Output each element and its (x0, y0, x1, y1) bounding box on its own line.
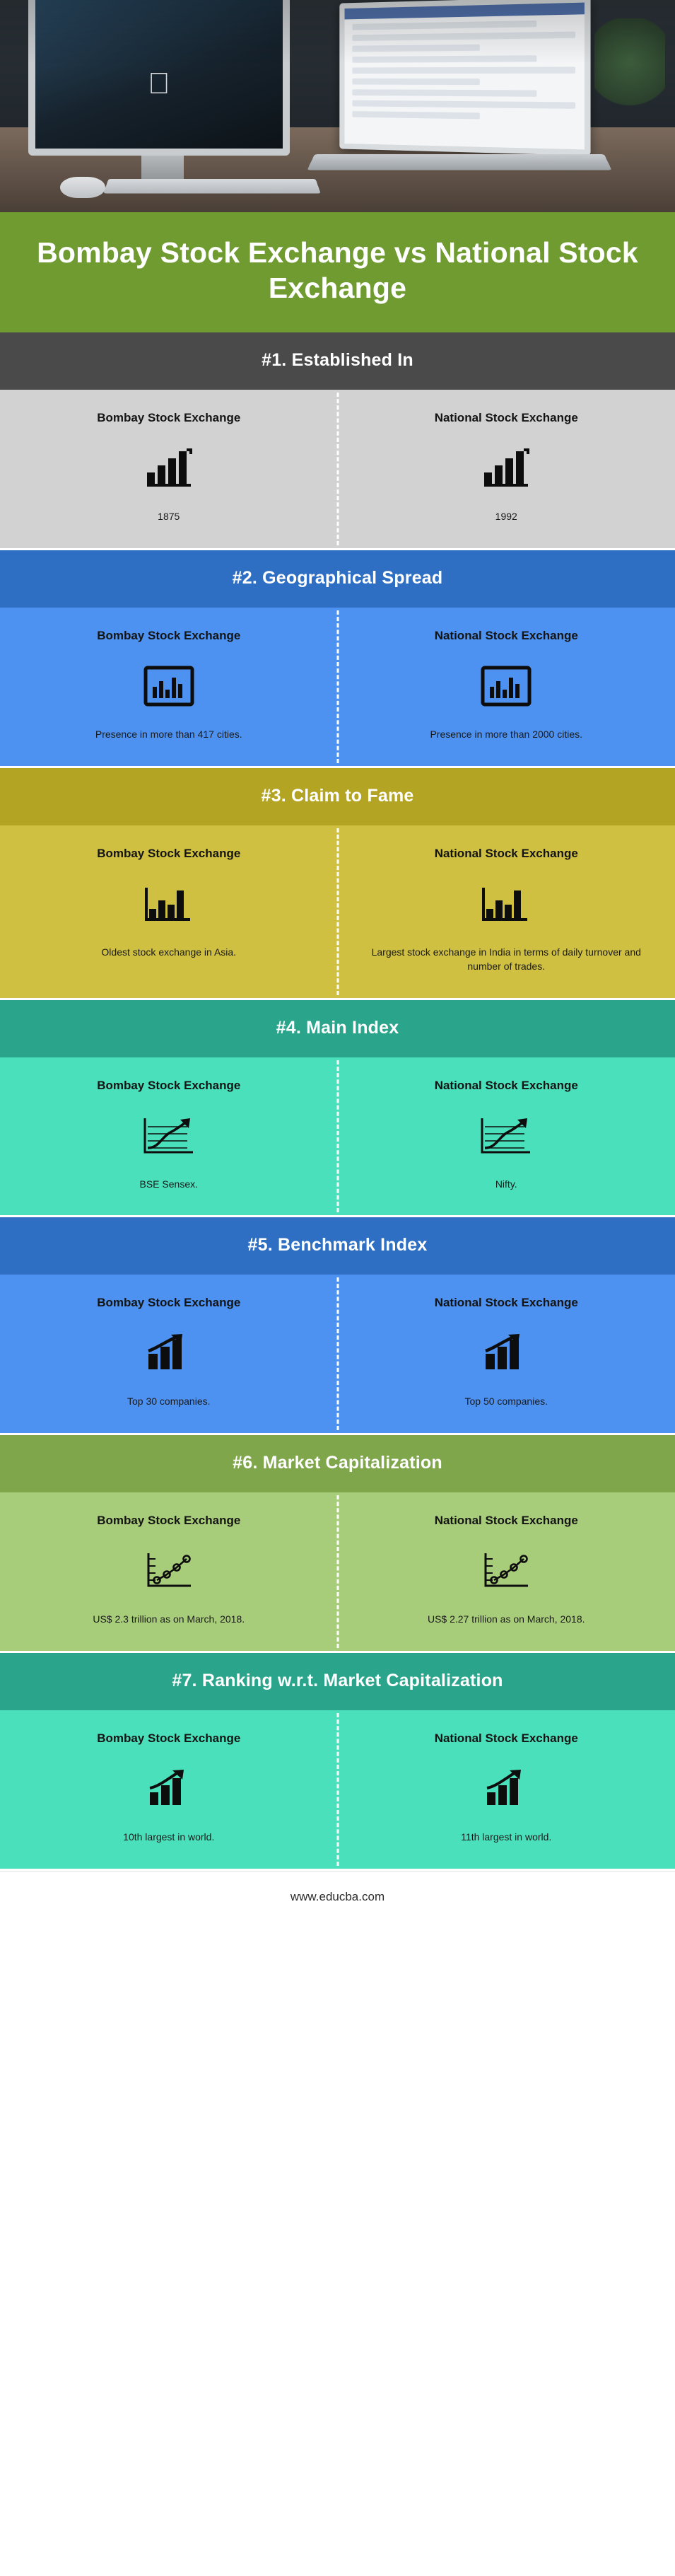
value-nse-6: US$ 2.27 trillion as on March, 2018. (366, 1613, 647, 1627)
section-body-4: Bombay Stock Exchange BSE Sensex. Nation… (0, 1057, 675, 1216)
section-body-6: Bombay Stock Exchange US$ 2.3 trillion a… (0, 1492, 675, 1651)
header-photo:  (0, 0, 675, 212)
exchange-name-nse: National Stock Exchange (366, 629, 647, 643)
value-nse-5: Top 50 companies. (366, 1395, 647, 1409)
column-bse-2: Bombay Stock Exchange Presence in more t… (0, 608, 338, 766)
column-bse-4: Bombay Stock Exchange BSE Sensex. (0, 1057, 338, 1216)
bars-with-arrow-icon (366, 1324, 647, 1382)
bars-arrow-up-icon (366, 1760, 647, 1818)
infographic-page:  Bombay Stock Exchange vs National Stoc… (0, 0, 675, 1925)
section-header-6: #6. Market Capitalization (0, 1435, 675, 1492)
page-title: Bombay Stock Exchange vs National Stock … (21, 235, 654, 306)
column-nse-6: National Stock Exchange US$ 2.27 trillio… (338, 1492, 675, 1651)
value-bse-6: US$ 2.3 trillion as on March, 2018. (28, 1613, 310, 1627)
column-bse-3: Bombay Stock Exchange Oldest stock excha… (0, 825, 338, 998)
section-header-3: #3. Claim to Fame (0, 768, 675, 825)
section-5: #5. Benchmark Index Bombay Stock Exchang… (0, 1217, 675, 1435)
sections-container: #1. Established In Bombay Stock Exchange… (0, 332, 675, 1871)
exchange-name-nse: National Stock Exchange (366, 847, 647, 861)
bar-columns-icon (366, 875, 647, 933)
line-growth-arrow-icon (28, 1107, 310, 1165)
scatter-line-icon (28, 1542, 310, 1600)
bar-chart-icon (28, 439, 310, 497)
exchange-name-nse: National Stock Exchange (366, 1731, 647, 1746)
exchange-name-nse: National Stock Exchange (366, 1296, 647, 1310)
bar-chart-icon (366, 439, 647, 497)
framed-bar-chart-icon (366, 657, 647, 715)
value-bse-2: Presence in more than 417 cities. (28, 728, 310, 742)
exchange-name-nse: National Stock Exchange (366, 1514, 647, 1528)
footer-url: www.educba.com (0, 1871, 675, 1925)
section-3: #3. Claim to Fame Bombay Stock Exchange … (0, 768, 675, 1000)
exchange-name-nse: National Stock Exchange (366, 411, 647, 425)
section-body-2: Bombay Stock Exchange Presence in more t… (0, 608, 675, 766)
section-header-5: #5. Benchmark Index (0, 1217, 675, 1275)
column-nse-4: National Stock Exchange Nifty. (338, 1057, 675, 1216)
exchange-name-bse: Bombay Stock Exchange (28, 1514, 310, 1528)
exchange-name-bse: Bombay Stock Exchange (28, 411, 310, 425)
section-header-1: #1. Established In (0, 332, 675, 390)
section-header-4: #4. Main Index (0, 1000, 675, 1057)
value-bse-1: 1875 (28, 510, 310, 524)
column-nse-1: National Stock Exchange 1992 (338, 390, 675, 548)
bars-arrow-up-icon (28, 1760, 310, 1818)
bar-columns-icon (28, 875, 310, 933)
exchange-name-nse: National Stock Exchange (366, 1079, 647, 1093)
section-6: #6. Market Capitalization Bombay Stock E… (0, 1435, 675, 1653)
bars-with-arrow-icon (28, 1324, 310, 1382)
section-body-3: Bombay Stock Exchange Oldest stock excha… (0, 825, 675, 998)
exchange-name-bse: Bombay Stock Exchange (28, 1296, 310, 1310)
section-body-1: Bombay Stock Exchange 1875 National Stoc… (0, 390, 675, 548)
framed-bar-chart-icon (28, 657, 310, 715)
value-bse-3: Oldest stock exchange in Asia. (28, 946, 310, 960)
line-growth-arrow-icon (366, 1107, 647, 1165)
value-nse-7: 11th largest in world. (366, 1831, 647, 1845)
value-nse-1: 1992 (366, 510, 647, 524)
column-bse-5: Bombay Stock Exchange Top 30 companies. (0, 1275, 338, 1433)
exchange-name-bse: Bombay Stock Exchange (28, 1079, 310, 1093)
value-nse-3: Largest stock exchange in India in terms… (366, 946, 647, 974)
section-body-5: Bombay Stock Exchange Top 30 companies. … (0, 1275, 675, 1433)
value-bse-5: Top 30 companies. (28, 1395, 310, 1409)
column-nse-3: National Stock Exchange Largest stock ex… (338, 825, 675, 998)
section-4: #4. Main Index Bombay Stock Exchange BSE… (0, 1000, 675, 1218)
section-body-7: Bombay Stock Exchange 10th largest in wo… (0, 1710, 675, 1869)
photo-vignette (0, 0, 675, 212)
column-bse-1: Bombay Stock Exchange 1875 (0, 390, 338, 548)
column-nse-2: National Stock Exchange Presence in more… (338, 608, 675, 766)
exchange-name-bse: Bombay Stock Exchange (28, 629, 310, 643)
value-bse-7: 10th largest in world. (28, 1831, 310, 1845)
column-bse-6: Bombay Stock Exchange US$ 2.3 trillion a… (0, 1492, 338, 1651)
exchange-name-bse: Bombay Stock Exchange (28, 1731, 310, 1746)
title-band: Bombay Stock Exchange vs National Stock … (0, 212, 675, 332)
value-nse-4: Nifty. (366, 1178, 647, 1192)
value-nse-2: Presence in more than 2000 cities. (366, 728, 647, 742)
exchange-name-bse: Bombay Stock Exchange (28, 847, 310, 861)
scatter-line-icon (366, 1542, 647, 1600)
section-7: #7. Ranking w.r.t. Market Capitalization… (0, 1653, 675, 1871)
column-nse-5: National Stock Exchange Top 50 companies… (338, 1275, 675, 1433)
column-nse-7: National Stock Exchange 11th largest in … (338, 1710, 675, 1869)
column-bse-7: Bombay Stock Exchange 10th largest in wo… (0, 1710, 338, 1869)
value-bse-4: BSE Sensex. (28, 1178, 310, 1192)
section-header-7: #7. Ranking w.r.t. Market Capitalization (0, 1653, 675, 1710)
section-1: #1. Established In Bombay Stock Exchange… (0, 332, 675, 550)
section-header-2: #2. Geographical Spread (0, 550, 675, 608)
section-2: #2. Geographical Spread Bombay Stock Exc… (0, 550, 675, 768)
